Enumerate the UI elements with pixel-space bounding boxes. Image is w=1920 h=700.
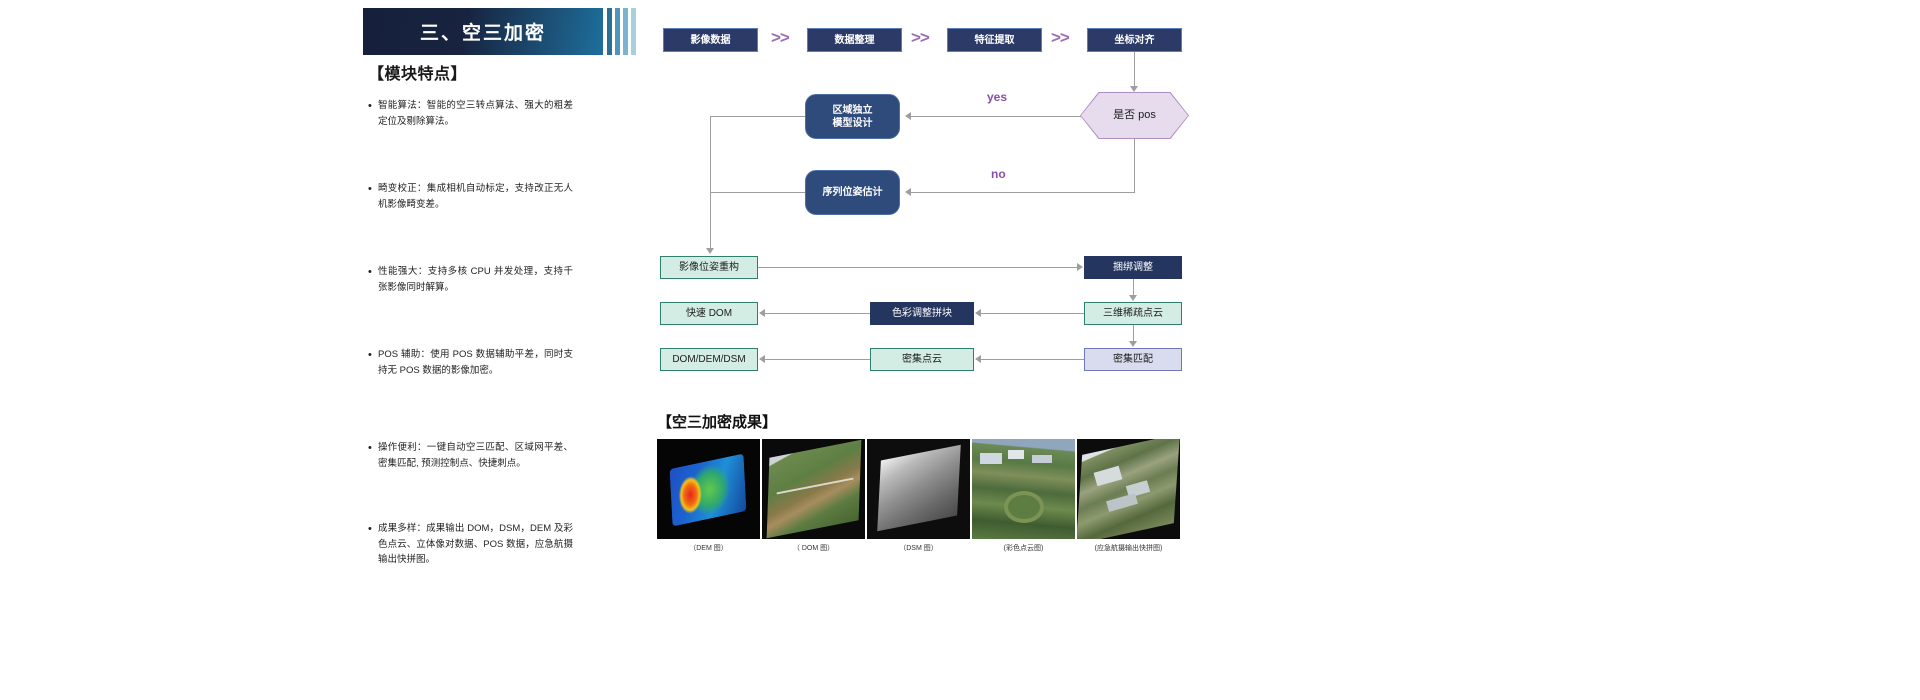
banner-stripe-4 [631,8,636,55]
result-thumbnail-dsm[interactable] [867,439,970,539]
flow-node-pose-reconstruct[interactable]: 影像位姿重构 [660,256,758,279]
flow-edge-dense-to-output [765,359,870,360]
pointcloud-building-3 [1032,455,1052,463]
bullet-icon: • [368,347,378,378]
list-item: • POS 辅助：使用 POS 数据辅助平差，同时支持无 POS 数据的影像加密… [368,347,573,378]
dom-surface-art [767,440,862,539]
flow-arrowhead-left-no [905,188,911,196]
result-caption-quickmosaic: (应急航摄输出快拼图) [1077,543,1180,553]
result-caption-dem: （DEM 图） [657,543,760,553]
flow-edge-merge-vertical [710,116,711,192]
flow-node-regional-model[interactable]: 区域独立 模型设计 [805,94,900,139]
flow-edge-recon-to-bundle [758,267,1077,268]
list-item-label: 成果多样：成果输出 DOM，DSM，DEM 及彩色点云、立体像对数据、POS 数… [378,521,573,568]
dem-surface-art [670,453,747,526]
workflow-diagram: 影像数据 >> 数据整理 >> 特征提取 >> 坐标对齐 是否 pos yes … [655,0,1195,400]
flow-edge-match-to-dense [981,359,1084,360]
list-item: • 性能强大：支持多核 CPU 并发处理，支持千张影像同时解算。 [368,264,573,295]
flow-edge-merge-down [710,192,711,250]
flow-node-data-organize[interactable]: 数据整理 [807,28,902,52]
flow-decision-has-pos[interactable]: 是否 pos [1081,93,1188,138]
flow-edge-model-merge-top [710,116,805,117]
list-item-label: 智能算法：智能的空三转点算法、强大的粗差定位及剔除算法。 [378,98,573,129]
pointcloud-building-1 [980,453,1002,464]
bullet-icon: • [368,264,378,295]
results-caption-row: （DEM 图） （ DOM 图） （DSM 图） (彩色点云图) (应急航摄输出… [657,543,1180,553]
list-item: • 智能算法：智能的空三转点算法、强大的粗差定位及剔除算法。 [368,98,573,129]
flow-edge-no-vertical [1134,139,1135,192]
flow-arrowhead-left-3 [975,309,981,317]
dsm-surface-art [877,445,961,532]
slide-root: 三、空三加密 【模块特点】 • 智能算法：智能的空三转点算法、强大的粗差定位及剔… [0,0,1920,700]
flow-edge-color-to-quickdom [765,313,870,314]
list-item: • 操作便利：一键自动空三匹配、区域网平差、密集匹配, 预测控制点、快捷刺点。 [368,440,573,471]
result-thumbnail-pointcloud[interactable] [972,439,1075,539]
flow-edge-label-no: no [991,167,1006,181]
flow-node-sequence-pose[interactable]: 序列位姿估计 [805,170,900,215]
flow-edge-no-horizontal [909,192,1135,193]
bullet-icon: • [368,181,378,212]
pointcloud-building-2 [1008,450,1024,459]
list-item: • 畸变校正：集成相机自动标定，支持改正无人机影像畸变差。 [368,181,573,212]
flow-arrowhead-down-4 [1129,341,1137,347]
result-thumbnail-dem[interactable] [657,439,760,539]
flow-edge-pose-merge-bottom [710,192,805,193]
flow-separator-1: >> [771,28,789,48]
result-caption-dsm: （DSM 图） [867,543,970,553]
result-thumbnail-dom[interactable] [762,439,865,539]
flow-separator-3: >> [1051,28,1069,48]
flow-arrowhead-left-yes [905,112,911,120]
flow-arrowhead-left-2 [759,309,765,317]
flow-node-dom-dem-dsm[interactable]: DOM/DEM/DSM [660,348,758,371]
flow-node-dense-cloud[interactable]: 密集点云 [870,348,974,371]
section-title-banner: 三、空三加密 [363,8,641,55]
banner-body: 三、空三加密 [363,8,603,55]
flow-arrowhead-down-2 [706,248,714,254]
features-heading: 【模块特点】 [368,60,467,84]
list-item-label: 畸变校正：集成相机自动标定，支持改正无人机影像畸变差。 [378,181,573,212]
flow-edge-yes [909,116,1081,117]
bullet-icon: • [368,98,378,129]
flow-node-coord-align[interactable]: 坐标对齐 [1087,28,1182,52]
list-item: • 成果多样：成果输出 DOM，DSM，DEM 及彩色点云、立体像对数据、POS… [368,521,573,568]
list-item-label: 操作便利：一键自动空三匹配、区域网平差、密集匹配, 预测控制点、快捷刺点。 [378,440,573,471]
flow-edge-align-to-decision [1134,52,1135,88]
results-heading: 【空三加密成果】 [657,411,777,432]
flow-node-image-data[interactable]: 影像数据 [663,28,758,52]
flow-arrowhead-down-3 [1129,295,1137,301]
flow-node-color-adjust[interactable]: 色彩调整拼块 [870,302,974,325]
banner-stripe-3 [623,8,628,55]
results-gallery [657,439,1180,539]
flow-arrowhead-down-1 [1130,86,1138,92]
flow-node-feature-extract[interactable]: 特征提取 [947,28,1042,52]
flow-node-bundle-adjust[interactable]: 捆绑调整 [1084,256,1182,279]
result-thumbnail-quickmosaic[interactable] [1077,439,1180,539]
flow-arrowhead-left-4 [759,355,765,363]
bullet-icon: • [368,521,378,568]
banner-stripe-2 [615,8,620,55]
list-item-label: POS 辅助：使用 POS 数据辅助平差，同时支持无 POS 数据的影像加密。 [378,347,573,378]
flow-edge-label-yes: yes [987,90,1007,104]
page-title: 三、空三加密 [420,18,546,45]
features-list: • 智能算法：智能的空三转点算法、强大的粗差定位及剔除算法。 • 畸变校正：集成… [368,98,573,613]
flow-arrowhead-left-5 [975,355,981,363]
pointcloud-ring-feature [1004,491,1044,523]
list-item-label: 性能强大：支持多核 CPU 并发处理，支持千张影像同时解算。 [378,264,573,295]
flow-separator-2: >> [911,28,929,48]
banner-stripe-group [603,8,641,55]
flow-node-sparse-cloud[interactable]: 三维稀疏点云 [1084,302,1182,325]
flow-node-quick-dom[interactable]: 快速 DOM [660,302,758,325]
flow-arrowhead-right-1 [1077,263,1083,271]
result-caption-dom: （ DOM 图） [762,543,865,553]
result-caption-pointcloud: (彩色点云图) [972,543,1075,553]
flow-node-dense-match[interactable]: 密集匹配 [1084,348,1182,371]
banner-stripe-1 [607,8,612,55]
bullet-icon: • [368,440,378,471]
flow-edge-sparse-to-color [981,313,1084,314]
